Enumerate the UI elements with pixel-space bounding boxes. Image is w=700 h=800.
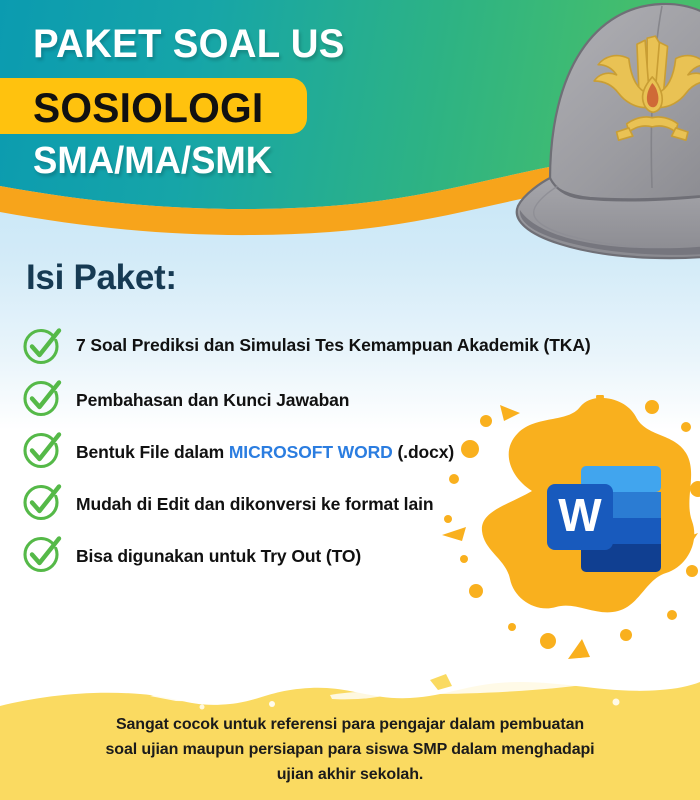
- section-heading: Isi Paket:: [26, 258, 177, 298]
- poster-subject: SOSIOLOGI: [33, 84, 263, 132]
- list-item: Pembahasan dan Kunci Jawaban: [22, 382, 682, 420]
- footer-caption-line2: soal ujian maupun persiapan para siswa S…: [0, 737, 700, 762]
- footer-caption-line3: ujian akhir sekolah.: [0, 762, 700, 787]
- poster: PAKET SOAL US SOSIOLOGI SMA/MA/SMK Isi P…: [0, 0, 700, 800]
- list-item-label: Mudah di Edit dan dikonversi ke format l…: [76, 486, 433, 517]
- word-icon-letter: W: [558, 489, 602, 541]
- microsoft-word-icon: W: [543, 462, 665, 580]
- check-circle-icon: [22, 536, 62, 576]
- list-item-text-before: Bentuk File dalam: [76, 442, 229, 462]
- list-item-label: 7 Soal Prediksi dan Simulasi Tes Kemampu…: [76, 330, 591, 358]
- list-item-label: Bentuk File dalam MICROSOFT WORD (.docx): [76, 434, 454, 465]
- list-item: 7 Soal Prediksi dan Simulasi Tes Kemampu…: [22, 330, 682, 368]
- check-circle-icon: [22, 432, 62, 472]
- poster-title-line1: PAKET SOAL US: [33, 22, 345, 67]
- list-item-label: Pembahasan dan Kunci Jawaban: [76, 382, 349, 413]
- footer-caption-line1: Sangat cocok untuk referensi para pengaj…: [0, 712, 700, 737]
- list-item-text-after: (.docx): [393, 442, 454, 462]
- footer-caption: Sangat cocok untuk referensi para pengaj…: [0, 712, 700, 787]
- graduation-cap-illustration: [400, 0, 700, 270]
- list-item-label: Bisa digunakan untuk Try Out (TO): [76, 538, 361, 569]
- poster-level: SMA/MA/SMK: [33, 140, 272, 183]
- list-item-highlight: MICROSOFT WORD: [229, 442, 393, 462]
- check-circle-icon: [22, 380, 62, 420]
- check-circle-icon: [22, 484, 62, 524]
- check-circle-icon: [22, 328, 62, 368]
